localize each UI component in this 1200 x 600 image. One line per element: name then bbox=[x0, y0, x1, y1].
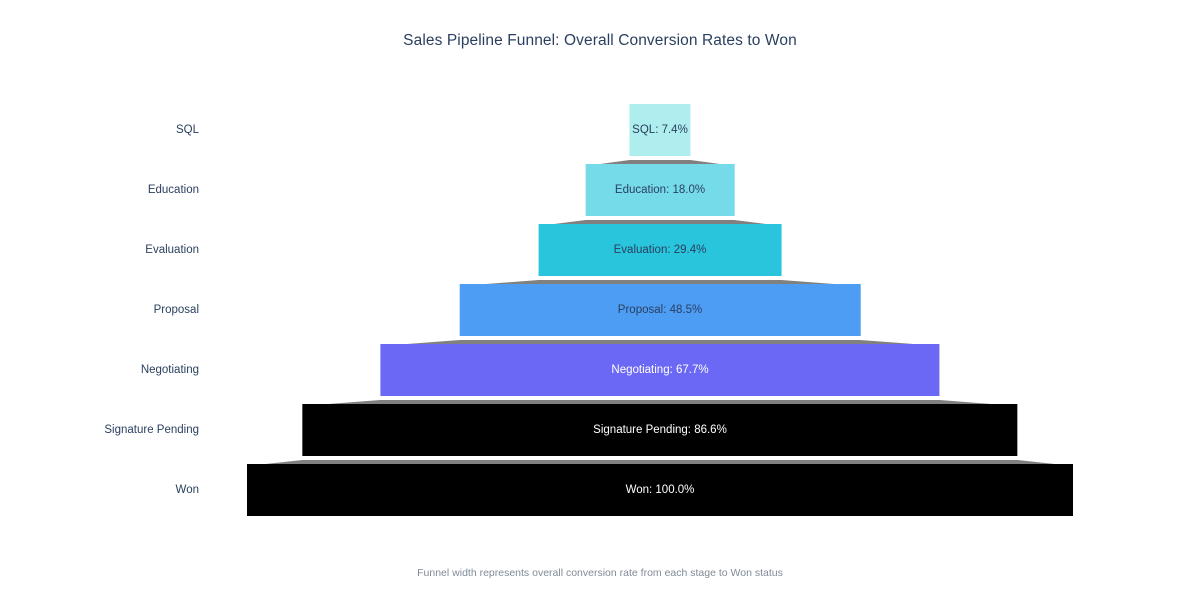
funnel-stage-row: SQLSQL: 7.4% bbox=[0, 100, 1200, 160]
funnel-bar-value-label: Proposal: 48.5% bbox=[618, 304, 702, 316]
funnel-bar-value-label: Negotiating: 67.7% bbox=[611, 364, 708, 376]
stage-axis-label-won: Won bbox=[0, 484, 199, 496]
funnel-bar-sql[interactable]: SQL: 7.4% bbox=[629, 104, 690, 156]
funnel-stage-row: EducationEducation: 18.0% bbox=[0, 160, 1200, 220]
funnel-stage-row: Signature PendingSignature Pending: 86.6… bbox=[0, 400, 1200, 460]
funnel-bar-negotiating[interactable]: Negotiating: 67.7% bbox=[380, 344, 939, 396]
stage-axis-label-negotiating: Negotiating bbox=[0, 364, 199, 376]
funnel-stage-row: WonWon: 100.0% bbox=[0, 460, 1200, 520]
funnel-bar-signature-pending[interactable]: Signature Pending: 86.6% bbox=[302, 404, 1017, 456]
funnel-stage-row: EvaluationEvaluation: 29.4% bbox=[0, 220, 1200, 280]
stage-axis-label-proposal: Proposal bbox=[0, 304, 199, 316]
stage-axis-label-education: Education bbox=[0, 184, 199, 196]
funnel-bar-proposal[interactable]: Proposal: 48.5% bbox=[460, 284, 861, 336]
funnel-bar-value-label: Education: 18.0% bbox=[615, 184, 705, 196]
stage-axis-label-signature-pending: Signature Pending bbox=[0, 424, 199, 436]
funnel-bar-value-label: Signature Pending: 86.6% bbox=[593, 424, 727, 436]
funnel-stage-row: ProposalProposal: 48.5% bbox=[0, 280, 1200, 340]
funnel-stage-row: NegotiatingNegotiating: 67.7% bbox=[0, 340, 1200, 400]
funnel-plot-area: SQLSQL: 7.4%EducationEducation: 18.0%Eva… bbox=[0, 0, 1200, 600]
funnel-bar-evaluation[interactable]: Evaluation: 29.4% bbox=[539, 224, 782, 276]
funnel-bar-value-label: SQL: 7.4% bbox=[632, 124, 688, 136]
funnel-bar-value-label: Won: 100.0% bbox=[626, 484, 695, 496]
funnel-bar-value-label: Evaluation: 29.4% bbox=[614, 244, 707, 256]
chart-annotation: Funnel width represents overall conversi… bbox=[0, 567, 1200, 579]
stage-axis-label-evaluation: Evaluation bbox=[0, 244, 199, 256]
funnel-bar-won[interactable]: Won: 100.0% bbox=[247, 464, 1073, 516]
funnel-bar-education[interactable]: Education: 18.0% bbox=[586, 164, 735, 216]
stage-axis-label-sql: SQL bbox=[0, 124, 199, 136]
funnel-chart: Sales Pipeline Funnel: Overall Conversio… bbox=[0, 0, 1200, 600]
